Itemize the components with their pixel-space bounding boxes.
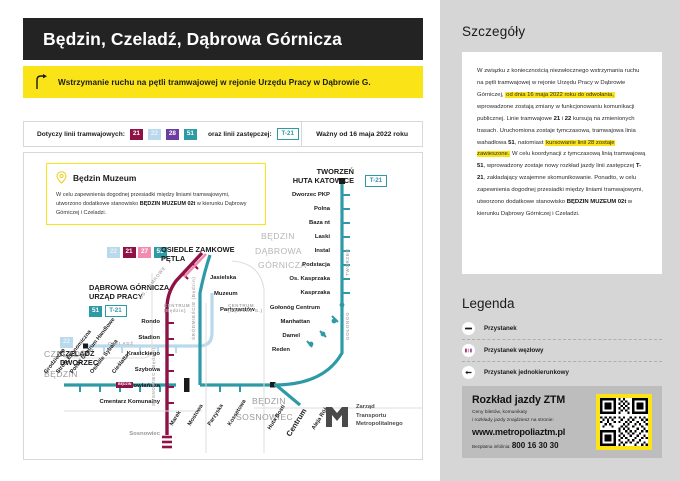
corridor-czeladz: CZELADŹ	[108, 341, 134, 346]
stop-reden: Reden	[170, 347, 290, 353]
terminus-tworzen: TWORZEŃ HUTA KATOWICE	[234, 167, 354, 186]
line-badge-21: 21	[130, 129, 143, 140]
ztm-m-logo-icon	[324, 403, 350, 429]
ztm-sub-2: i rozkłady jazdy znajdziesz na stronie:	[472, 417, 596, 425]
details-stop-name: BĘDZIN MUZEUM 02t	[567, 199, 627, 205]
callout-body: W celu zapewnienia dogodnej przesiadki m…	[47, 184, 265, 218]
corridor-golonog: GOŁONÓG	[345, 312, 350, 340]
stop-slowianska: Słowiańska	[64, 383, 160, 389]
stop-instal: Instal	[210, 248, 330, 254]
page-title: Będzin, Czeladź, Dąbrowa Górnicza	[23, 29, 342, 50]
one-way-stop-icon	[462, 366, 475, 379]
poster-header: Będzin, Czeladź, Dąbrowa Górnicza	[23, 18, 423, 60]
map-pin-icon	[56, 171, 67, 184]
map-line-badge-27: 27	[138, 247, 151, 258]
ztm-infoline: Bezpłatna infolinia: 800 16 30 30	[472, 441, 596, 450]
qr-code-svg	[600, 398, 648, 446]
interchange-stop-icon	[462, 344, 475, 357]
validity-text: Ważny od 16 maja 2022 roku	[302, 131, 422, 138]
legend-item-jednokierunkowy: Przystanek jednokierunkowy	[462, 362, 662, 383]
lines-label: Dotyczy linii tramwajowych:	[37, 131, 125, 138]
ztm-info-label: Bezpłatna infolinia:	[472, 444, 511, 449]
callout-line-2: utworzono dodatkowe stanowisko	[56, 201, 140, 207]
ztm-logo-line-2: Transportu	[356, 412, 403, 420]
legend-label-3: Przystanek jednokierunkowy	[484, 369, 569, 376]
details-p5: , natomiast	[515, 140, 545, 146]
right-sidebar: Szczegóły W związku z koniecznością niez…	[440, 0, 680, 481]
ztm-card-sub: Ceny biletów, komunikaty i rozkłady jazd…	[472, 409, 596, 424]
stop-baza-nt: Baza nt	[210, 220, 330, 226]
centrum-dabrowa-label: CENTRUM (Dąbrowa G.)	[228, 303, 263, 313]
corridor-sosnowiec: SOSNOWIEC (Będzin)	[151, 347, 156, 406]
details-highlight-1: od dnia 16 maja 2022 roku do odwołania,	[505, 92, 615, 98]
map-line-badge-t21-tworzen: T-21	[365, 175, 387, 187]
route-change-arrow-icon	[35, 74, 49, 90]
stop-marker-icon	[462, 322, 475, 335]
stop-muzeum: Muzeum	[214, 291, 238, 297]
notice-banner: Wstrzymanie ruchu na pętli tramwajowej w…	[23, 66, 423, 98]
ztm-sub-1: Ceny biletów, komunikaty	[472, 409, 596, 417]
left-column: Będzin, Czeladź, Dąbrowa Górnicza Wstrzy…	[0, 0, 440, 481]
centrum-bedzin-label: CENTRUM (Będzin)	[164, 303, 190, 313]
ztm-card-title: Rozkład jazdy ZTM	[472, 394, 596, 406]
urzad-pracy-title: DĄBROWA GÓRNICZA URZĄD PRACY	[89, 283, 169, 302]
ztm-schedule-card[interactable]: Rozkład jazdy ZTM Ceny biletów, komunika…	[462, 386, 662, 458]
notice-text: Wstrzymanie ruchu na pętli tramwajowej w…	[58, 78, 371, 87]
stop-jasielska: Jasielska	[210, 275, 236, 281]
stop-polna: Polna	[210, 206, 330, 212]
callout-header: Będzin Muzeum	[47, 164, 265, 184]
corridor-tworzen: TWORZEŃ	[345, 249, 350, 276]
legend-item-przystanek: Przystanek	[462, 318, 662, 340]
ztm-url[interactable]: www.metropoliaztm.pl	[472, 427, 596, 437]
corridor-srodmiescie: ŚRÓDMIEŚCIE (Będzin)	[191, 276, 196, 340]
ztm-info-number: 800 16 30 30	[512, 441, 559, 450]
callout-title: Będzin Muzeum	[73, 173, 136, 183]
details-p7: , wprowadzony zostaje nowy rozkład jazdy…	[484, 163, 636, 169]
legend-item-wezlowy: Przystanek węzłowy	[462, 340, 662, 362]
line-badge-22: 22	[148, 129, 161, 140]
ztm-logo: Zarząd Transportu Metropolitalnego	[324, 403, 403, 429]
urzad-pracy-line-badges: 51 T-21	[89, 305, 127, 317]
legend-label-1: Przystanek	[484, 325, 517, 332]
map-line-badge-t21-up: T-21	[105, 305, 127, 317]
ztm-logo-line-1: Zarząd	[356, 403, 403, 411]
stop-dworzec-pkp: Dworzec PKP	[210, 192, 330, 198]
map-line-badge-22: 22	[107, 247, 120, 258]
line-badge-28: 28	[166, 129, 179, 140]
details-heading: Szczegóły	[440, 0, 680, 39]
callout-line-1: W celu zapewnienia dogodnej przesiadki m…	[56, 192, 229, 198]
ztm-logo-line-3: Metropolitalnego	[356, 420, 403, 428]
osiedle-zamkowe-line-badges: 22 21 27 51	[107, 247, 167, 258]
direction-sosnowiec: Sosnowiec	[64, 431, 160, 437]
details-card: W związku z koniecznością niezwłocznego …	[462, 52, 662, 274]
legend-list: Przystanek Przystanek węzłowy	[462, 318, 662, 383]
callout-stop-name: BĘDZIN MUZEUM 02t	[140, 201, 196, 207]
qr-code-icon[interactable]	[596, 394, 652, 450]
stop-laski: Laski	[210, 234, 330, 240]
stop-manhattan: Manhattan	[190, 319, 310, 325]
ztm-logo-text: Zarząd Transportu Metropolitalnego	[356, 403, 403, 428]
map-line-badge-21: 21	[123, 247, 136, 258]
map-line-badge-21-slowianska: BĘDZIN	[116, 382, 133, 388]
poster-page: Będzin, Czeladź, Dąbrowa Górnicza Wstrzy…	[0, 0, 680, 481]
route-map[interactable]: Będzin Muzeum W celu zapewnienia dogodne…	[23, 152, 423, 460]
lines-info-bar: Dotyczy linii tramwajowych: 21 22 28 51 …	[23, 121, 423, 147]
line-badge-t21: T-21	[277, 128, 299, 140]
details-p6: W celu koordynacji z tymczasową linią tr…	[510, 151, 645, 157]
legend-heading: Legenda	[462, 296, 515, 311]
ztm-card-text: Rozkład jazdy ZTM Ceny biletów, komunika…	[472, 394, 596, 450]
details-paragraph: W związku z koniecznością niezwłocznego …	[477, 66, 647, 221]
replacement-label: oraz linii zastępczej:	[208, 131, 272, 138]
stop-damel: Damel	[180, 333, 300, 339]
stop-cmentarz-komunalny: Cmentarz Komunalny	[54, 399, 160, 405]
legend-label-2: Przystanek węzłowy	[484, 347, 544, 354]
line-badge-51: 51	[184, 129, 197, 140]
stop-podstacja: Podstacja	[210, 262, 330, 268]
map-line-badge-51-up: 51	[89, 306, 102, 317]
region-label-sosnowiec: SOSNOWIEC	[236, 412, 293, 422]
